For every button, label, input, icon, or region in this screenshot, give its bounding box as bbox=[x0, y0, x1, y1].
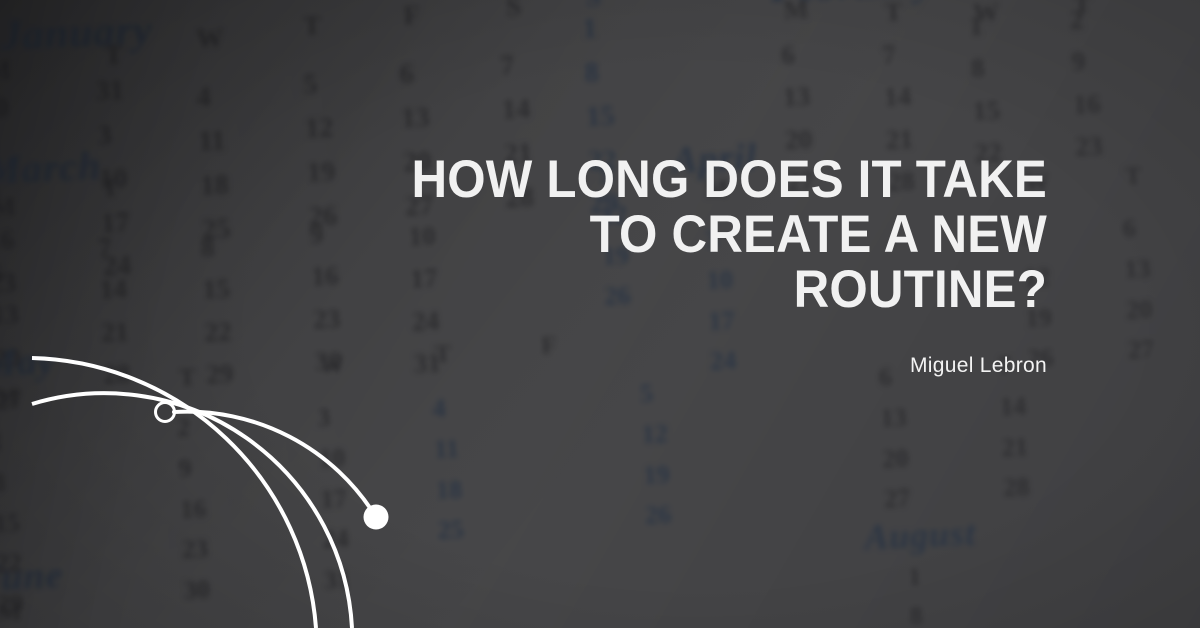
middle-arc bbox=[32, 393, 352, 628]
title-line-1: HOW LONG DOES IT TAKE bbox=[266, 152, 1047, 207]
author-byline: Miguel Lebron bbox=[207, 354, 1047, 378]
outer-arc bbox=[32, 358, 316, 628]
title-line-3: ROUTINE? bbox=[266, 262, 1047, 317]
dot-marker-icon bbox=[364, 505, 389, 530]
text-block: HOW LONG DOES IT TAKE TO CREATE A NEW RO… bbox=[207, 152, 1047, 378]
ring-marker-icon bbox=[156, 403, 175, 422]
title-card: January M T W T F S S 30 2 9 16 23 31 3 … bbox=[0, 0, 1200, 628]
page-title: HOW LONG DOES IT TAKE TO CREATE A NEW RO… bbox=[266, 152, 1047, 317]
title-line-2: TO CREATE A NEW bbox=[266, 207, 1047, 262]
